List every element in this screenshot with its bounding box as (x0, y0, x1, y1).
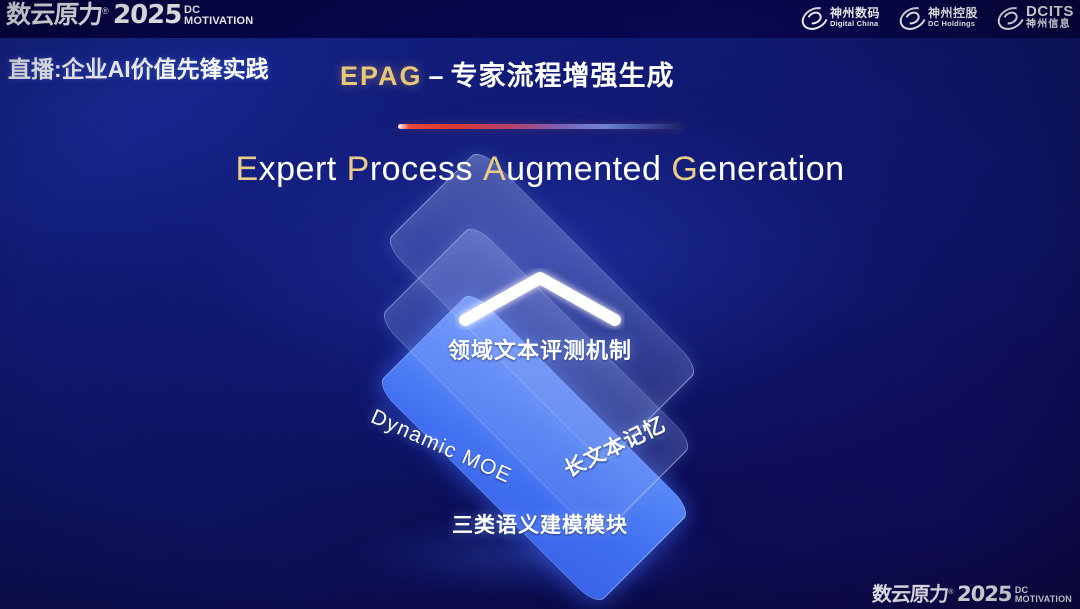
footer-registered-mark-icon: ® (948, 589, 953, 596)
title-divider (398, 124, 683, 129)
live-session-label: 直播:企业AI价值先锋实践 (8, 50, 269, 84)
partner-name-cn: 神州信息 (1026, 20, 1074, 31)
subtitle-rest-generation: eneration (698, 150, 844, 188)
partner-name-en: DCITS (1026, 4, 1074, 20)
subtitle-rest-augmented: ugmented (506, 150, 661, 188)
title-text-cn: 专家流程增强生成 (451, 61, 675, 91)
brand-dc-motivation: DC MOTIVATION (184, 5, 253, 27)
chevron-up-icon (455, 268, 625, 330)
brand-dc-line2: MOTIVATION (184, 16, 253, 27)
title-acronym: EPAG (340, 61, 423, 91)
footer-brand-year: 2025 (957, 584, 1013, 605)
footer-brand-watermark: 数云原力 ® 2025 DC MOTIVATION (872, 584, 1072, 605)
registered-mark-icon: ® (102, 7, 109, 16)
layer-label-top: 领域文本评测机制 (0, 333, 1080, 365)
subtitle-cap-p: P (347, 150, 370, 188)
partner-name-cn: 神州数码 (830, 7, 880, 20)
subtitle-rest-expert: xpert (259, 150, 337, 188)
layer-label-bottom: 三类语义建模模块 (0, 509, 1080, 539)
subtitle-cap-g: G (671, 150, 698, 188)
brand-year: 2025 (112, 2, 182, 28)
footer-brand-dc-line2: MOTIVATION (1015, 595, 1072, 604)
slide-title: EPAG–专家流程增强生成 (340, 54, 675, 93)
footer-brand-dc-motivation: DC MOTIVATION (1015, 586, 1072, 604)
partner-name-cn: 神州控股 (928, 7, 978, 20)
footer-brand-name-cn: 数云原力 (872, 585, 949, 605)
subtitle-cap-a: A (483, 150, 506, 188)
swoosh-logo-icon (996, 6, 1022, 28)
subtitle-cap-e: E (235, 150, 258, 188)
subtitle-rest-process: rocess (370, 150, 473, 188)
swoosh-logo-icon (898, 6, 924, 28)
swoosh-logo-icon (800, 6, 826, 28)
partner-name-en: Digital China (830, 20, 880, 28)
brand-name-cn: 数云原力 (5, 3, 102, 28)
partner-logo-dc-holdings: 神州控股 DC Holdings (898, 6, 978, 28)
partner-logo-dcits: DCITS 神州信息 (996, 4, 1074, 31)
slide-subtitle: Expert Process Augmented Generation (0, 150, 1080, 189)
partner-logo-digital-china: 神州数码 Digital China (800, 6, 880, 28)
partner-logo-group: 神州数码 Digital China 神州控股 DC Holdings DCIT… (800, 4, 1074, 31)
presentation-slide: 数云原力 ® 2025 DC MOTIVATION 直播:企业AI价值先锋实践 … (0, 0, 1080, 609)
partner-name-en: DC Holdings (928, 20, 978, 28)
brand-logo: 数云原力 ® 2025 DC MOTIVATION (6, 2, 253, 28)
title-dash: – (423, 61, 451, 91)
